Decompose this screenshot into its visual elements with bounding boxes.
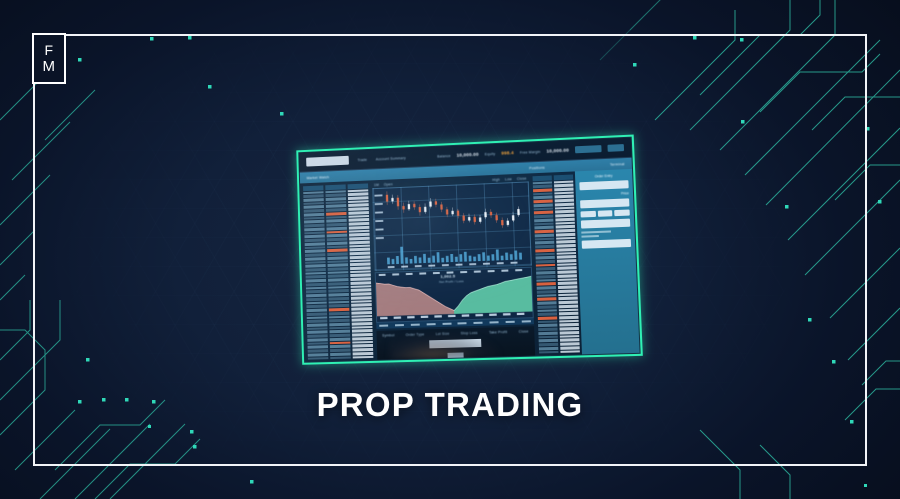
order-field-label-price: Price xyxy=(580,191,629,197)
order-entry-heading: Order Entry xyxy=(579,173,628,179)
subbar-item-positions[interactable]: Positions xyxy=(529,165,545,170)
ladder-column-symbol xyxy=(303,185,328,359)
quick-button-2[interactable] xyxy=(597,210,612,217)
profile-button[interactable] xyxy=(607,144,624,152)
quick-button-1[interactable] xyxy=(581,211,596,218)
toolbar-ohlc: Open xyxy=(384,182,393,186)
summary-line-commission xyxy=(581,235,598,238)
nav-item-trade[interactable]: Trade xyxy=(357,157,367,161)
order-form-panel[interactable]: Symbol Order Type Lot Size Stop Loss Tak… xyxy=(376,326,535,360)
area-sub-label: Net Profit / Loss xyxy=(439,279,464,284)
fm-logo: F M xyxy=(32,33,66,84)
ladder-row[interactable] xyxy=(560,331,579,334)
ladder-row[interactable] xyxy=(539,350,558,353)
banner-stage: F M Trade Account Summary Balance 10,000… xyxy=(0,0,900,499)
stat-value-free-margin: 10,000.00 xyxy=(546,148,569,154)
ladder-row[interactable] xyxy=(560,350,579,353)
stat-label-free-margin: Free Margin xyxy=(520,149,541,154)
settings-button[interactable] xyxy=(575,145,602,153)
subbar-item-terminal[interactable]: Terminal xyxy=(610,162,625,167)
toolbar-timeframes[interactable]: 1M xyxy=(374,183,379,187)
summary-line-margin xyxy=(581,230,610,233)
market-watch-ladder[interactable] xyxy=(300,180,375,361)
trading-dashboard-screenshot: Trade Account Summary Balance 10,000.00 … xyxy=(296,142,636,360)
subbar-item-market-watch[interactable]: Market Watch xyxy=(307,175,330,180)
ladder-row[interactable] xyxy=(559,320,578,323)
platform-logo xyxy=(306,156,349,167)
page-title: PROP TRADING xyxy=(0,386,900,424)
hand-silhouette xyxy=(389,330,500,359)
chart-area: 1M Open High Low Close 1,002.5 N xyxy=(370,173,537,359)
ladder-row[interactable] xyxy=(559,323,578,326)
order-field-volume[interactable] xyxy=(579,180,628,190)
ladder-row[interactable] xyxy=(560,342,579,345)
logo-letter-f: F xyxy=(44,43,53,57)
ladder-row[interactable] xyxy=(538,324,557,327)
stat-value-balance: 10,000.00 xyxy=(457,152,479,158)
legend-close: Close xyxy=(517,176,527,180)
candlestick-chart[interactable] xyxy=(372,181,532,271)
ladder-row[interactable] xyxy=(560,339,579,342)
ladder-row[interactable] xyxy=(538,332,557,335)
ladder-row[interactable] xyxy=(560,346,579,349)
pnl-area-chart[interactable]: 1,002.5 Net Profit / Loss xyxy=(375,267,534,323)
order-field-price[interactable] xyxy=(580,198,629,208)
ladder-row[interactable] xyxy=(539,347,558,350)
ladder-row[interactable] xyxy=(538,320,557,323)
order-quick-buttons[interactable] xyxy=(581,209,630,217)
dashboard-body: 1M Open High Low Close 1,002.5 N xyxy=(300,169,640,362)
nav-item-account-summary[interactable]: Account Summary xyxy=(376,156,406,161)
place-order-button[interactable] xyxy=(582,239,631,249)
ladder-row[interactable] xyxy=(538,335,557,338)
orders-ladder[interactable] xyxy=(530,171,582,355)
ladder-row[interactable] xyxy=(560,335,579,338)
ladder-column-last-price xyxy=(348,183,374,358)
ladder-row[interactable] xyxy=(538,316,557,319)
label-close: Close xyxy=(519,329,529,333)
ladder-column-bid-ask xyxy=(325,184,351,359)
ladder-row[interactable] xyxy=(559,316,578,319)
ladder-row[interactable] xyxy=(539,343,558,346)
ladder-row[interactable] xyxy=(560,327,579,330)
order-summary xyxy=(581,230,630,238)
area-value-label: 1,002.5 xyxy=(440,274,455,280)
ladder-row[interactable] xyxy=(353,356,374,359)
legend-low: Low xyxy=(505,177,512,181)
logo-letter-m: M xyxy=(43,59,56,74)
stat-label-balance: Balance xyxy=(437,154,451,159)
ladder-row[interactable] xyxy=(308,357,329,360)
screenshot-content: Trade Account Summary Balance 10,000.00 … xyxy=(299,138,639,362)
legend-high: High xyxy=(492,178,500,182)
ladder-row[interactable] xyxy=(330,356,351,359)
ladder-row[interactable] xyxy=(538,313,557,316)
quick-button-3[interactable] xyxy=(615,209,630,216)
stat-value-equity: 998.4 xyxy=(501,150,514,156)
ladder-row[interactable] xyxy=(539,339,558,342)
order-field-stop-loss[interactable] xyxy=(581,219,630,229)
stat-label-equity: Equity xyxy=(485,151,496,155)
ladder-row[interactable] xyxy=(538,328,557,331)
order-entry-panel[interactable]: Order Entry Price xyxy=(575,169,640,354)
